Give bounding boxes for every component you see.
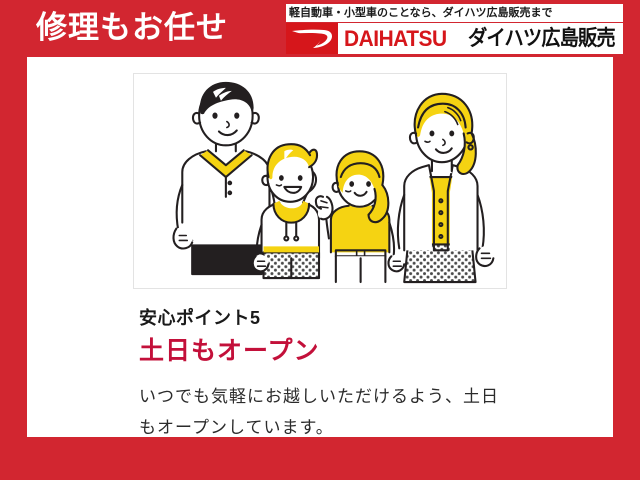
page-title: 修理もお任せ [36, 10, 228, 46]
poster-root: 修理もお任せ 軽自動車・小型車のことなら、ダイハツ広島販売まで DAIHATSU… [0, 0, 640, 480]
family-of-four-illustration: .ln{fill:none;stroke:#231f20;stroke-widt… [133, 73, 507, 289]
logo-japanese-name: ダイハツ広島販売 [468, 27, 615, 51]
logo-wordmark: DAIHATSU [344, 26, 447, 51]
point-title: 土日もオープン [139, 335, 559, 367]
daihatsu-d-swoosh-icon [286, 23, 338, 54]
logo-band: DAIHATSU ダイハツ広島販売 [286, 23, 623, 54]
content-card: .ln{fill:none;stroke:#231f20;stroke-widt… [27, 57, 613, 437]
header-banner: 修理もお任せ 軽自動車・小型車のことなら、ダイハツ広島販売まで DAIHATSU… [0, 0, 640, 57]
tagline-band: 軽自動車・小型車のことなら、ダイハツ広島販売まで [286, 4, 623, 22]
point-label: 安心ポイント5 [139, 305, 559, 331]
text-block: 安心ポイント5 土日もオープン いつでも気軽にお越しいただけるよう、土日もオープ… [139, 305, 559, 443]
brand-tagline: 軽自動車・小型車のことなら、ダイハツ広島販売まで [289, 5, 552, 21]
body-text: いつでも気軽にお越しいただけるよう、土日もオープンしています。 [139, 381, 504, 443]
brand-logo-block: 軽自動車・小型車のことなら、ダイハツ広島販売まで DAIHATSU ダイハツ広島… [286, 4, 623, 54]
